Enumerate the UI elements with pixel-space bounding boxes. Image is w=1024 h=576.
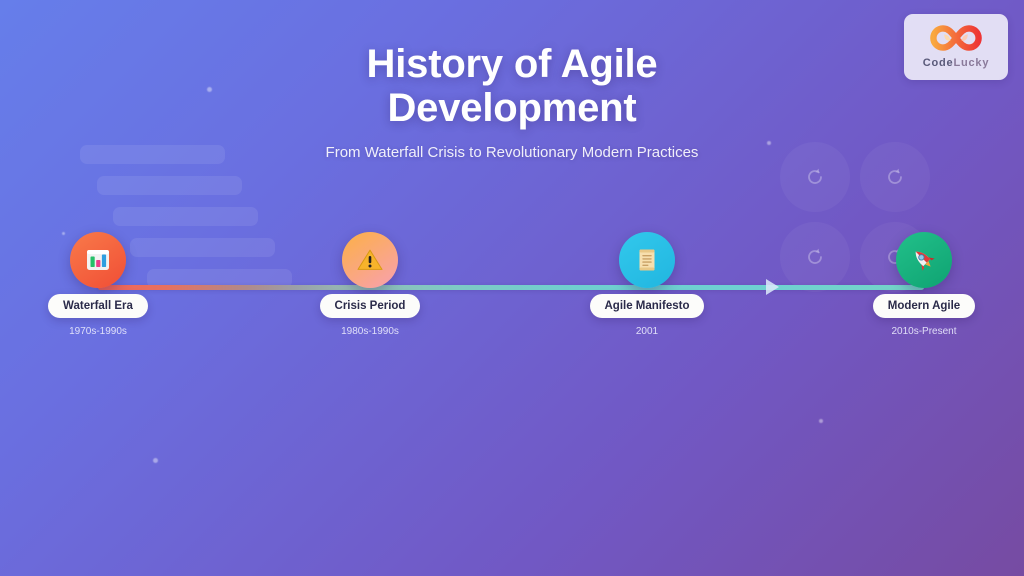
warning-triangle-icon: [355, 245, 385, 275]
infinity-leaf-icon: [930, 25, 982, 56]
slide-header: History of AgileDevelopment From Waterfa…: [0, 42, 1024, 161]
logo-word-code: Code: [923, 57, 954, 69]
timeline-node-waterfall-era[interactable]: Waterfall Era1970s-1990s: [28, 232, 168, 337]
timeline-node-circle-modern-agile[interactable]: [896, 232, 952, 288]
timeline-node-label-modern-agile[interactable]: Modern Agile: [873, 294, 975, 318]
timeline-node-agile-manifesto[interactable]: Agile Manifesto2001: [577, 232, 717, 337]
timeline-node-circle-waterfall-era[interactable]: [70, 232, 126, 288]
page-title-line-2: Development: [388, 86, 637, 130]
timeline-track: [98, 285, 924, 290]
timeline-node-date-agile-manifesto: 2001: [636, 326, 658, 337]
logo-wordmark: CodeLucky: [923, 57, 990, 69]
timeline-node-date-waterfall-era: 1970s-1990s: [69, 326, 127, 337]
codelucky-logo-badge: CodeLucky: [904, 14, 1008, 80]
timeline-node-label-waterfall-era[interactable]: Waterfall Era: [48, 294, 148, 318]
presentation-slide: CodeLucky History of AgileDevelopment Fr…: [0, 0, 1024, 576]
page-title: History of AgileDevelopment: [232, 42, 792, 130]
timeline-node-circle-crisis-period[interactable]: [342, 232, 398, 288]
bar-chart-icon: [83, 245, 113, 275]
timeline-node-label-agile-manifesto[interactable]: Agile Manifesto: [590, 294, 705, 318]
timeline-node-date-modern-agile: 2010s-Present: [891, 326, 956, 337]
page-subtitle: From Waterfall Crisis to Revolutionary M…: [0, 144, 1024, 161]
logo-word-lucky: Lucky: [953, 57, 989, 69]
scroll-document-icon: [632, 245, 662, 275]
right-arrow-icon: [766, 279, 779, 295]
rocket-icon: [909, 245, 939, 275]
timeline-node-modern-agile[interactable]: Modern Agile2010s-Present: [854, 232, 994, 337]
timeline-node-circle-agile-manifesto[interactable]: [619, 232, 675, 288]
page-title-line-1: History of Agile: [367, 42, 658, 86]
timeline-node-crisis-period[interactable]: Crisis Period1980s-1990s: [300, 232, 440, 337]
timeline-node-label-crisis-period[interactable]: Crisis Period: [320, 294, 421, 318]
timeline-node-date-crisis-period: 1980s-1990s: [341, 326, 399, 337]
